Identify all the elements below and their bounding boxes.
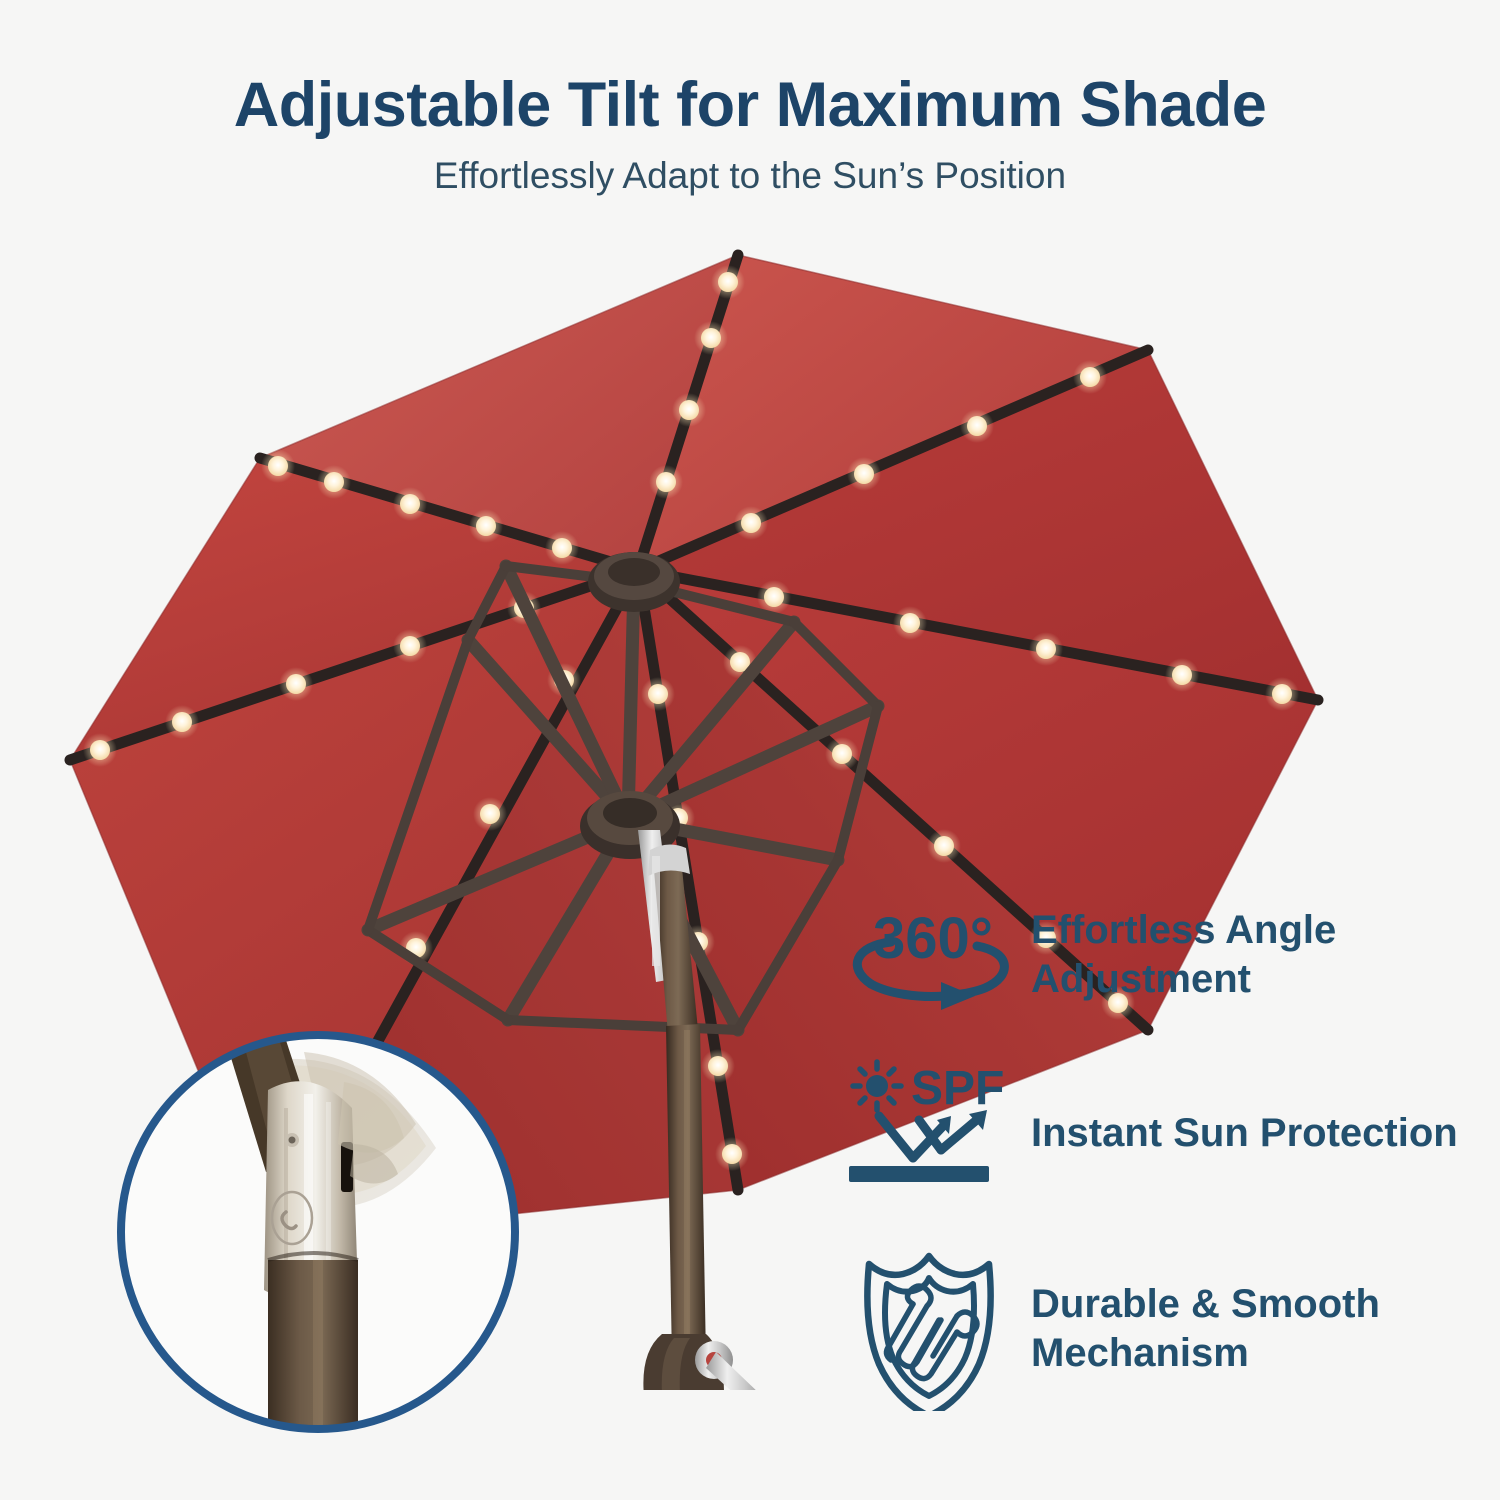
feature-item-sun-protection: SPF Instant Sun Protection [845, 1048, 1485, 1218]
feature-label-angle-adjustment: Effortless Angle Adjustment [1025, 906, 1336, 1004]
spf-sun-protection-icon: SPF [845, 1058, 1025, 1208]
marketing-image-canvas: Adjustable Tilt for Maximum Shade Effort… [0, 0, 1500, 1500]
feature-item-angle-adjustment: 360° Effortless Angle Adjustment [845, 880, 1485, 1030]
crank-mechanism [643, 1334, 770, 1390]
shield-wrench-icon-svg [845, 1246, 1025, 1411]
page-title: Adjustable Tilt for Maximum Shade [0, 72, 1500, 138]
360-label: 360° [873, 906, 993, 971]
360-rotation-icon: 360° [845, 890, 1025, 1020]
crown-hub [588, 552, 680, 612]
detail-inset-svg [108, 1022, 528, 1442]
spf-icon-svg: SPF [845, 1058, 1025, 1208]
360-rotation-icon-svg: 360° [845, 890, 1025, 1020]
feature-item-durable-mechanism: Durable & Smooth Mechanism [845, 1236, 1485, 1421]
page-subtitle: Effortlessly Adapt to the Sun’s Position [0, 156, 1500, 197]
feature-list: 360° Effortless Angle Adjustment [845, 880, 1485, 1439]
tilt-mechanism-detail-inset [108, 1022, 528, 1442]
feature-label-durable-mechanism: Durable & Smooth Mechanism [1025, 1280, 1380, 1378]
header-block: Adjustable Tilt for Maximum Shade Effort… [0, 0, 1500, 197]
feature-label-sun-protection: Instant Sun Protection [1025, 1109, 1458, 1158]
spf-label: SPF [911, 1062, 1004, 1115]
shield-wrench-icon [845, 1246, 1025, 1411]
